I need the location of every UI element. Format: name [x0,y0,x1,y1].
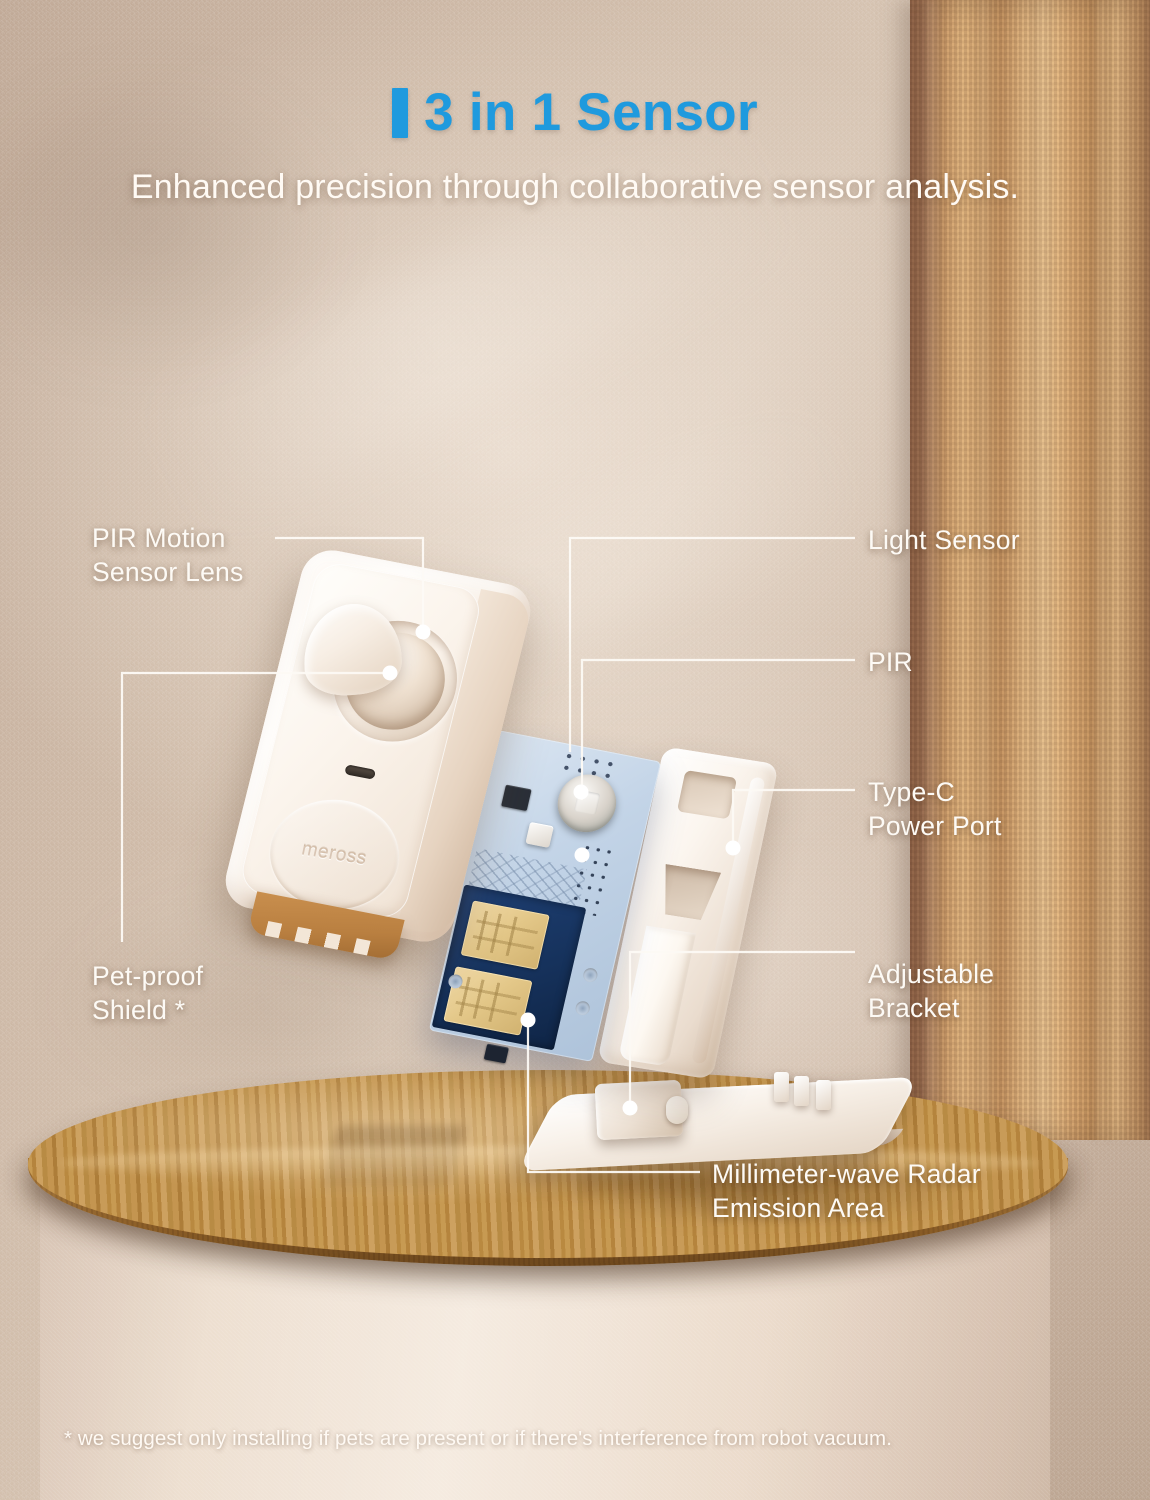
callout-pir-motion-sensor-lens: PIR Motion Sensor Lens [92,522,392,590]
footnote-text: * we suggest only installing if pets are… [64,1424,1094,1454]
callout-light-sensor: Light Sensor [868,524,1128,558]
callout-labels: PIR Motion Sensor Lens Pet-proof Shield … [0,0,1150,1500]
callout-millimeter-wave-radar: Millimeter-wave Radar Emission Area [712,1158,1112,1226]
callout-pir: PIR [868,646,1068,680]
callout-type-c-power-port: Type-C Power Port [868,776,1098,844]
callout-pet-proof-shield: Pet-proof Shield * [92,960,392,1028]
callout-adjustable-bracket: Adjustable Bracket [868,958,1118,1026]
